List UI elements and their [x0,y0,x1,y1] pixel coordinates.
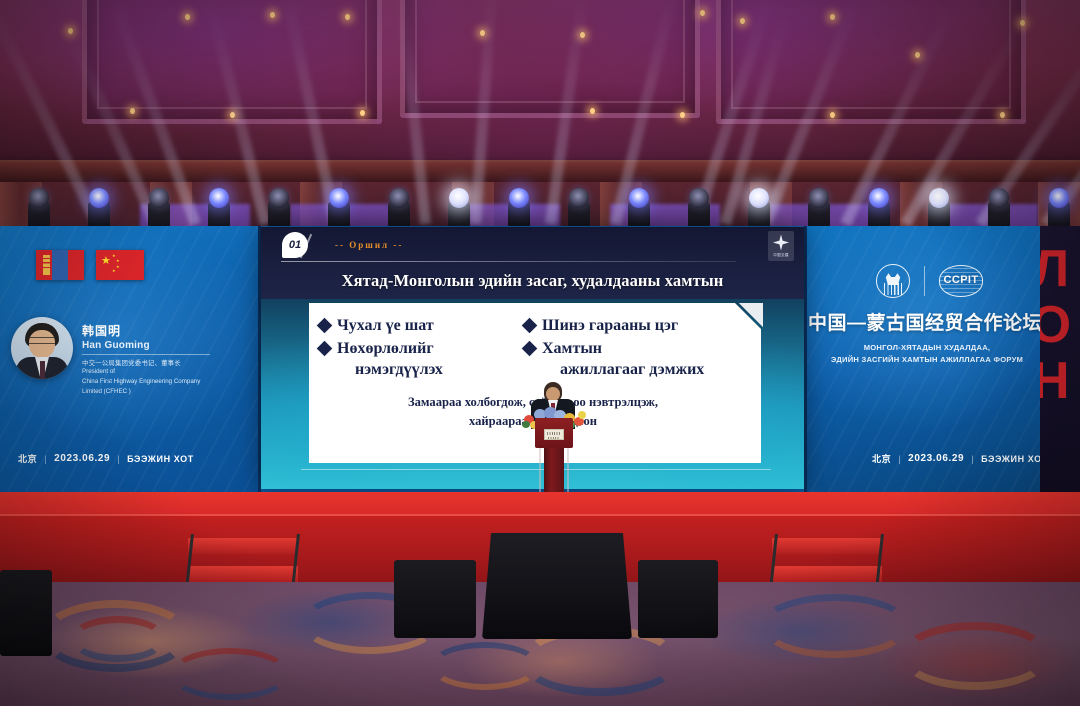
cccc-logo-label: 中国交建 [773,253,789,258]
ceiling-downlight [185,14,190,20]
backdrop-seam [804,226,807,494]
forum-subtitle-line1: МОНГОЛ-ХЯТАДЫН ХУДАЛДАА, [810,342,1044,354]
cccc-china-communications-logo: 中国交建 [768,231,794,261]
diamond-bullet-icon [317,341,333,357]
ceiling-downlight [1020,20,1025,26]
light-lens-icon [629,188,649,208]
slide-bullet-grid: Чухал үе шат Шинэ гарааны цэг Нөхөрлөлий… [319,315,749,380]
moving-head-light [266,188,292,228]
mongolia-emblem-logo [876,264,910,298]
ceiling-downlight [230,112,235,118]
presentation-screen: Чухал үе шат Шинэ гарааны цэг Нөхөрлөлий… [261,227,804,489]
speaker-title-cn: 中交一公局集团党委书记、董事长 [82,358,232,367]
moving-head-light [1046,188,1072,228]
date-city-mn: БЭЭЖИН ХОТ [981,454,1048,464]
ceiling-downlight [830,14,835,20]
light-lens-icon [29,188,49,208]
ceiling-coffer [400,0,700,118]
podium-top [535,418,573,448]
ccpit-logo: CCPIT [939,265,983,297]
right-date-bar: 北京 | 2023.06.29 | БЭЭЖИН ХОТ [872,452,1048,465]
ceiling-downlight [700,10,705,16]
forum-logo-row: CCPIT [876,264,983,298]
moving-head-light [746,188,772,228]
ceiling-downlight [360,110,365,116]
date-city-mn: БЭЭЖИН ХОТ [127,454,194,464]
speaker-portrait-avatar [11,317,73,379]
moving-head-light [326,188,352,228]
light-lens-icon [869,188,889,208]
ceiling-coffer [716,0,1026,124]
diamond-bullet-icon [317,318,333,334]
date-value: 2023.06.29 [908,453,964,464]
ceiling-coffer [82,0,382,124]
conference-stage-scene: ★ ★ ★ ★ ★ 韩国明 Han Guoming 中交一公局集团党委书记、董事… [0,0,1080,706]
logo-divider [924,266,925,296]
ceiling-downlight [580,32,585,38]
slide-bullet: Нөхөрлөлийг нэмэгдүүлэх [319,338,524,380]
light-lens-icon [749,188,769,208]
light-lens-icon [809,188,829,208]
light-lens-icon [209,188,229,208]
ceiling-downlight [68,28,73,34]
ceiling-downlight [590,108,595,114]
china-flag-small-star: ★ [116,259,120,263]
stage-monitor-left [394,560,476,638]
moving-head-light [146,188,172,228]
podium-nameplate [544,429,564,440]
moving-head-light [566,188,592,228]
flower-blossom [522,421,530,428]
left-date-bar: 北京 | 2023.06.29 | БЭЭЖИН ХОТ [18,452,194,465]
date-separator: | [971,454,974,464]
china-flag-small-star: ★ [112,269,116,273]
ceiling-downlight [680,112,685,118]
moving-head-light [386,188,412,228]
ceiling-downlight [480,30,485,36]
china-flag-big-star: ★ [101,256,111,267]
stage-steps-right [772,528,888,588]
compass-star-icon [773,235,789,251]
light-lens-icon [689,188,709,208]
slide-bullet-continuation: нэмэгдүүлэх [337,359,443,380]
slide-title: Хятад-Монголын эдийн засаг, худалдааны х… [261,271,804,291]
flower-blossom [578,411,586,419]
diamond-bullet-icon [522,318,538,334]
moving-head-light [506,188,532,228]
ceiling-downlight [1000,112,1005,118]
ceiling-downlight [740,18,745,24]
speaker-title-en-2: China First Highway Engineering Company [82,378,232,387]
ccpit-logo-text: CCPIT [939,274,983,286]
light-lens-icon [89,188,109,208]
moving-head-light [26,188,52,228]
moving-head-light [206,188,232,228]
stage-steps-left [188,528,304,588]
moving-head-light [626,188,652,228]
forum-title-cn: 中国—蒙古国经贸合作论坛 [806,308,1044,335]
ceiling-downlight [130,108,135,114]
soyombo-symbol [43,255,50,275]
moving-head-light [986,188,1012,228]
light-lens-icon [569,188,589,208]
slide-bullet-text: Шинэ гарааны цэг [542,317,678,334]
light-lens-icon [989,188,1009,208]
ceiling-downlight [270,12,275,18]
speaker-name-en: Han Guoming [82,340,232,351]
date-separator: | [117,454,120,464]
ceiling-truss-beam [0,160,1080,182]
moving-head-light [446,188,472,228]
slide-bullet: Чухал үе шат [319,315,524,336]
china-flag: ★ ★ ★ ★ ★ [96,250,144,280]
slide-section-kicker: -- Оршил -- [335,240,403,250]
diamond-bullet-icon [522,341,538,357]
speaker-info-block: 韩国明 Han Guoming 中交一公局集团党委书记、董事长 Presiden… [82,322,232,397]
far-right-dark-panel: ЛОН [1040,226,1080,494]
light-lens-icon [269,188,289,208]
moving-head-light [866,188,892,228]
ceiling-downlight [915,52,920,58]
light-lens-icon [329,188,349,208]
moving-head-light [806,188,832,228]
ceiling-downlight [830,112,835,118]
speaker-name-cn: 韩国明 [82,322,232,339]
moving-head-light [926,188,952,228]
slide-bullet: Шинэ гарааны цэг [524,315,749,336]
stage-monitor-center [482,533,632,639]
light-lens-icon [929,188,949,208]
forum-subtitle-line2: ЭДИЙН ЗАСГИЙН ХАМТЫН АЖИЛЛАГАА ФОРУМ [810,354,1044,366]
moving-head-light [686,188,712,228]
date-value: 2023.06.29 [54,453,110,464]
speaker-title-en-1: President of [82,368,232,377]
date-city-cn: 北京 [18,452,37,465]
flag-pair: ★ ★ ★ ★ ★ [36,250,144,280]
date-separator: | [44,454,47,464]
slide-header-rule [281,261,736,262]
light-lens-icon [449,188,469,208]
speaker-divider [82,354,210,355]
light-lens-icon [149,188,169,208]
stage-monitor-far-left [0,570,52,656]
stage-monitor-right [638,560,718,638]
date-city-cn: 北京 [872,452,891,465]
slide-bullet-text: Нөхөрлөлийг [337,340,434,357]
slide-bullet-text: Хамтын [542,340,602,357]
light-lens-icon [1049,188,1069,208]
china-flag-small-star: ★ [116,265,120,269]
slide-bullet: Хамтын ажиллагааг дэмжих [524,338,749,380]
forum-subtitle-mn: МОНГОЛ-ХЯТАДЫН ХУДАЛДАА, ЭДИЙН ЗАСГИЙН Х… [810,342,1044,366]
slide-bullet-continuation: ажиллагааг дэмжих [542,359,704,380]
slide-bullet-text: Чухал үе шат [337,317,434,334]
moving-head-light [86,188,112,228]
ceiling-downlight [345,14,350,20]
speaker-title-en-3: Limited (CFHEC ) [82,388,232,397]
light-lens-icon [509,188,529,208]
date-separator: | [898,454,901,464]
far-edge-red-text: ЛОН [1040,240,1074,408]
mongolia-flag [36,250,84,280]
light-lens-icon [389,188,409,208]
